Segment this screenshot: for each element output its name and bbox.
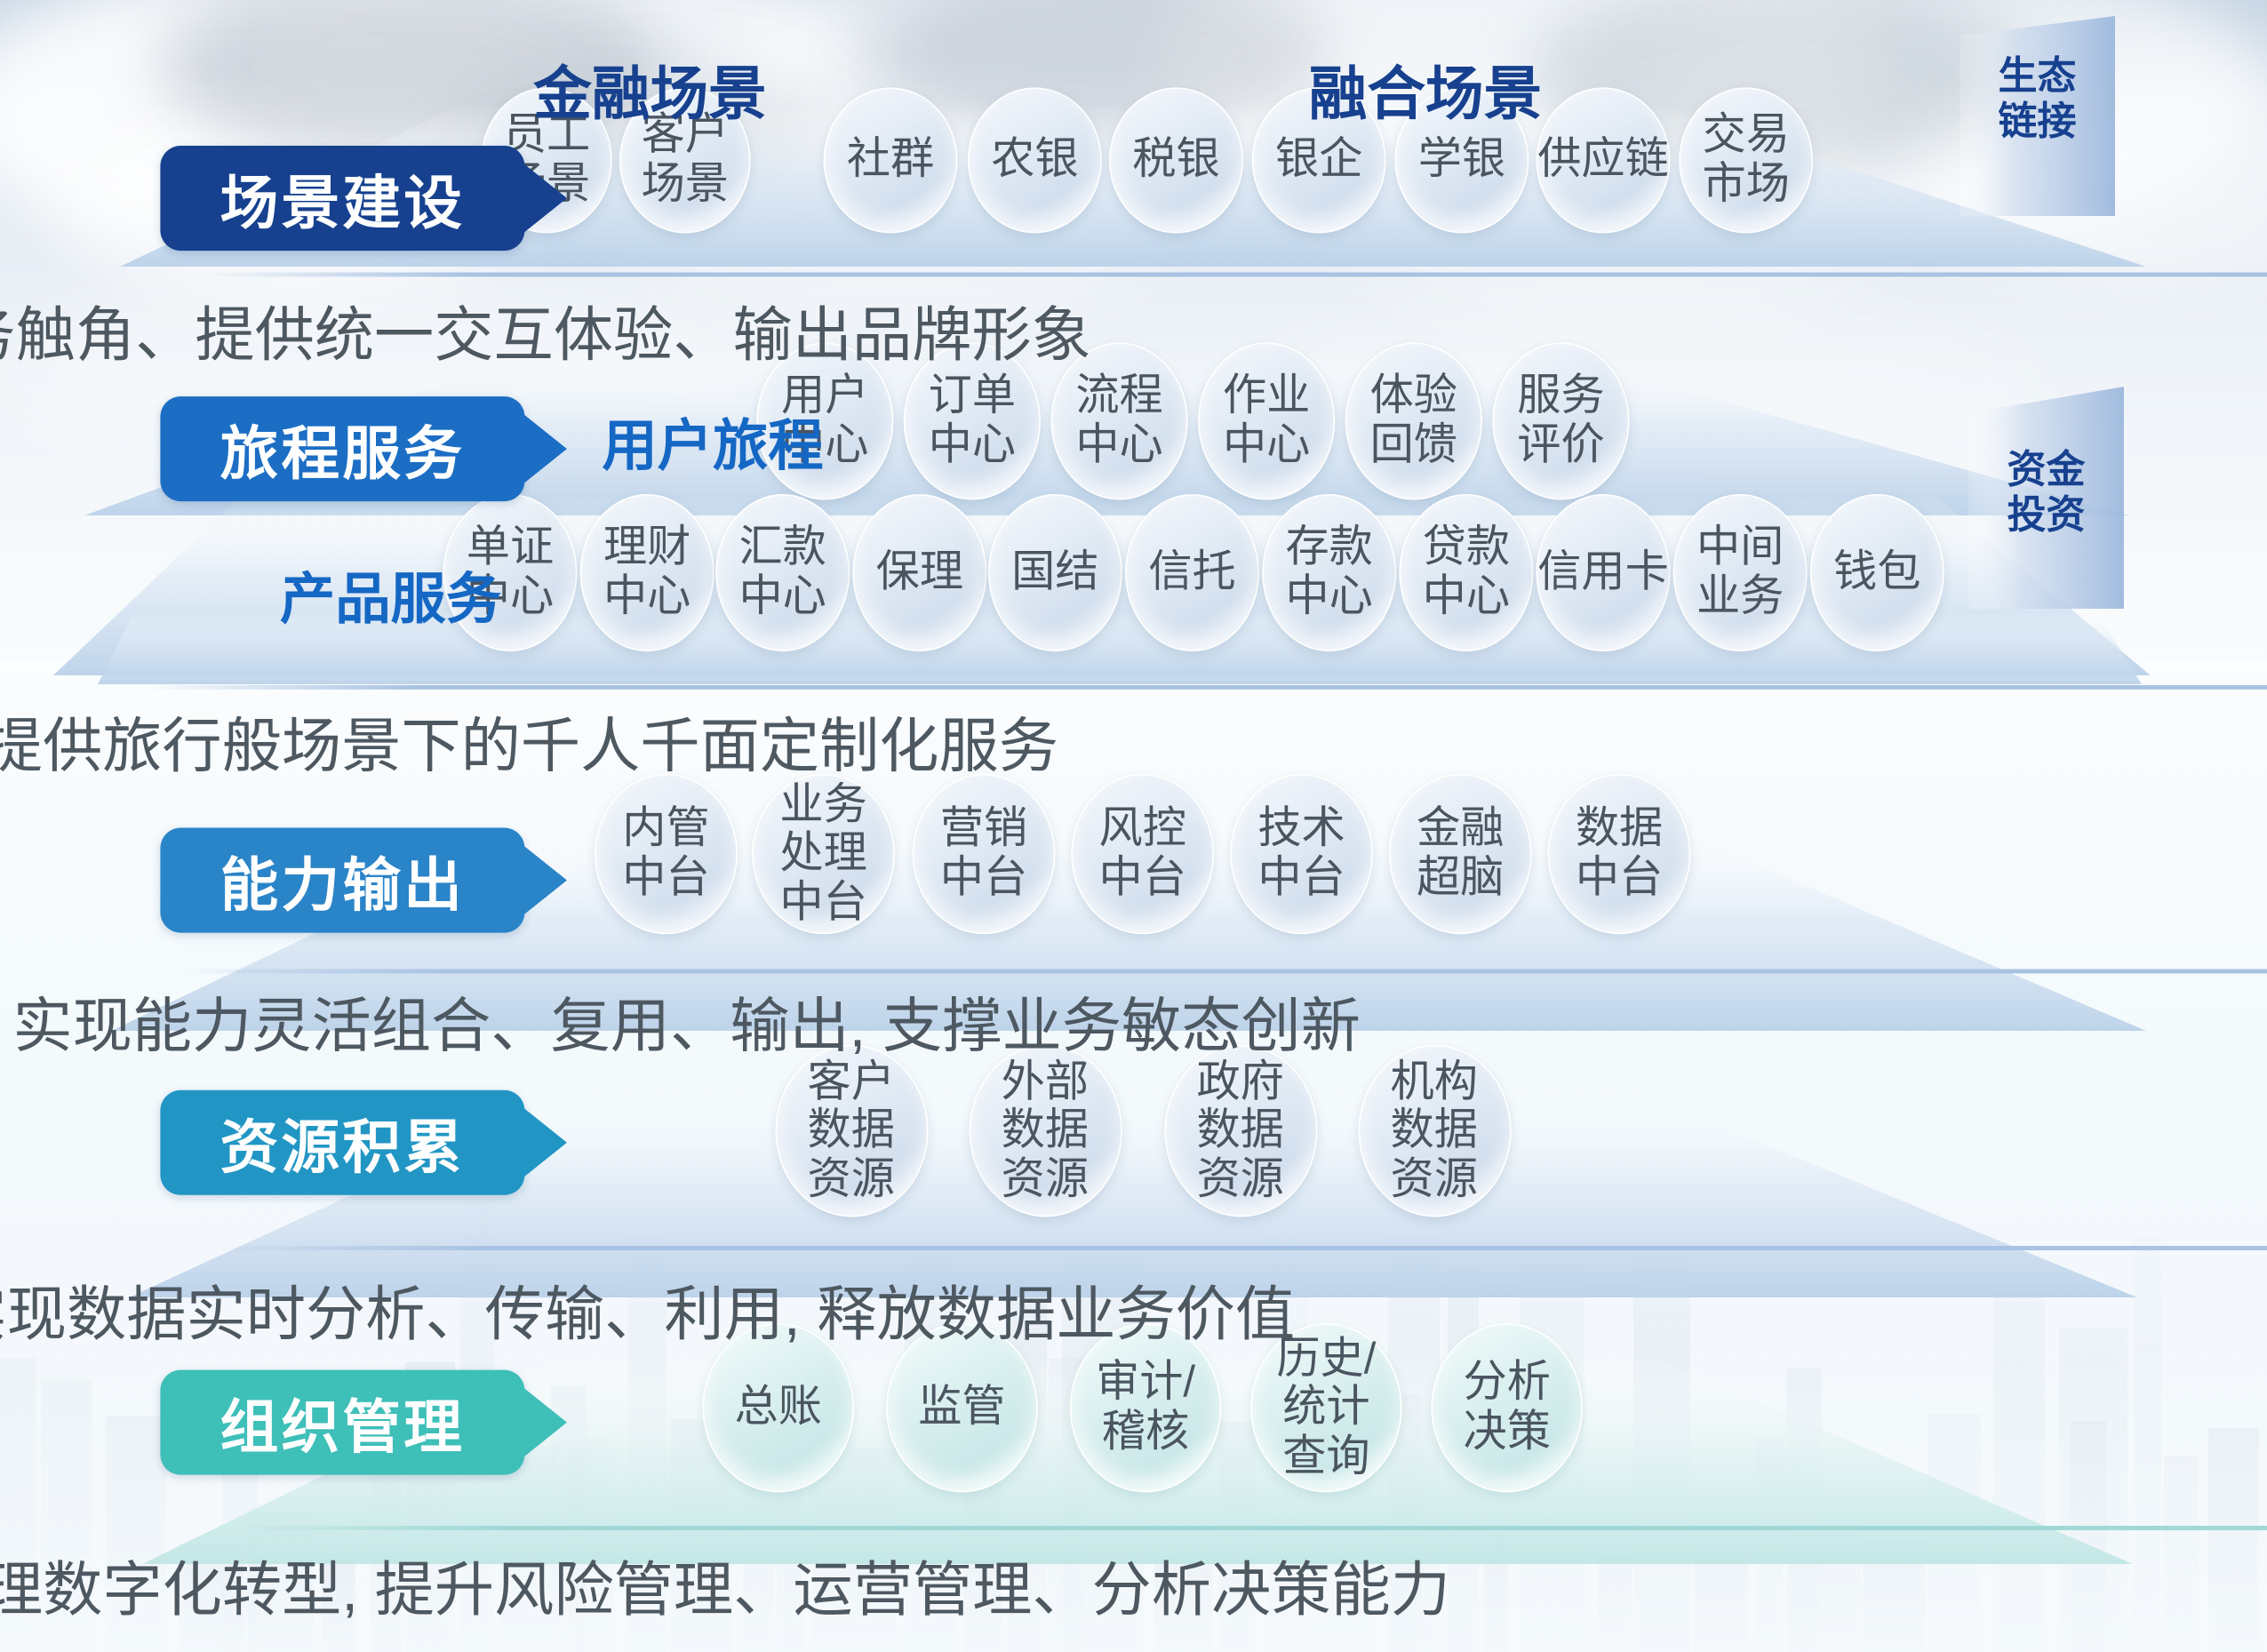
row-label: 用户旅程 (602, 401, 823, 481)
layer-divider-line (204, 273, 2267, 277)
ribbon-label-line2: 投资 (1988, 492, 2104, 538)
node-bubble-label: 政府数据资源 (1196, 1057, 1283, 1204)
node-bubble-label: 机构数据资源 (1391, 1057, 1478, 1204)
node-bubble[interactable]: 汇款中心 (715, 494, 850, 651)
node-bubble-label: 体验回馈 (1370, 372, 1457, 470)
ribbon-label-line1: 资金 (1988, 447, 2104, 492)
node-bubble-label: 保理 (876, 548, 963, 597)
layer-tag-arrow (523, 1387, 567, 1457)
layer-tag-arrow (523, 414, 567, 484)
node-bubble[interactable]: 供应链 (1537, 87, 1671, 233)
group-heading: 融合场景 (1309, 46, 1542, 131)
node-bubble[interactable]: 客户数据资源 (775, 1045, 928, 1217)
node-bubble-label: 订单中心 (929, 372, 1016, 470)
node-bubble-label: 存款中心 (1285, 523, 1372, 621)
layer-caption: 数据资源打通, 实现数据实时分析、传输、利用, 释放数据业务价值 (0, 1265, 1559, 1353)
node-bubble-label: 国结 (1011, 548, 1098, 597)
node-bubble[interactable]: 风控中台 (1071, 774, 1214, 934)
node-bubble[interactable]: 社群 (824, 87, 958, 233)
node-bubble-label: 营销中台 (940, 805, 1027, 903)
layer-tag-label: 资源积累 (220, 1100, 466, 1185)
row-label: 产品服务 (280, 554, 501, 634)
layer-tag-arrow (523, 1107, 567, 1177)
layer-tag-arrow (523, 164, 567, 234)
node-bubble-label: 贷款中心 (1423, 523, 1510, 621)
node-bubble-label: 中间业务 (1696, 523, 1784, 621)
node-bubble[interactable]: 信托 (1125, 494, 1259, 651)
node-bubble[interactable]: 数据中台 (1548, 774, 1691, 934)
layer-tag-arrow (523, 845, 567, 915)
node-bubble[interactable]: 存款中心 (1262, 494, 1396, 651)
node-bubble-label: 业务处理中台 (779, 780, 866, 927)
layer-divider-line (219, 1246, 2267, 1250)
node-bubble-label: 总账 (735, 1384, 822, 1433)
ribbon-label-line2: 链接 (1979, 99, 2095, 144)
node-bubble-label: 金融超脑 (1417, 805, 1504, 903)
node-bubble[interactable]: 保理 (852, 494, 986, 651)
node-bubble[interactable]: 理财中心 (580, 494, 714, 651)
node-bubble[interactable]: 营销中台 (913, 774, 1056, 934)
layer-caption: 为客户提供旅行般场景下的千人千面定制化服务 (0, 697, 1565, 784)
node-bubble[interactable]: 业务处理中台 (752, 774, 895, 934)
node-bubble[interactable]: 贷款中心 (1399, 494, 1533, 651)
node-bubble-label: 理财中心 (603, 523, 690, 621)
node-bubble[interactable]: 技术中台 (1230, 774, 1373, 934)
node-bubble-label: 农银 (991, 136, 1078, 185)
node-bubble-label: 钱包 (1833, 548, 1920, 597)
node-bubble-label: 审计/稽核 (1096, 1359, 1195, 1456)
node-bubble-label: 信托 (1148, 548, 1235, 597)
node-bubble-label: 监管 (918, 1384, 1005, 1433)
node-bubble[interactable]: 农银 (968, 87, 1102, 233)
layer-tag-resource[interactable]: 资源积累 (160, 1090, 524, 1195)
node-bubble-label: 流程中心 (1075, 372, 1162, 470)
layer-caption: 多个能力中台体系, 实现能力灵活组合、复用、输出, 支撑业务敏态创新 (0, 977, 1565, 1064)
node-bubble-label: 汇款中心 (738, 523, 826, 621)
layer-divider-line (146, 685, 2267, 690)
ribbon-label-capital: 资金投资 (1988, 447, 2104, 538)
layer-tag-label: 场景建设 (220, 156, 466, 240)
node-bubble-label: 数据中台 (1576, 805, 1663, 903)
node-bubble[interactable]: 税银 (1109, 87, 1243, 233)
layer-tag-journey[interactable]: 旅程服务 (160, 396, 524, 501)
node-bubble-label: 服务评价 (1517, 372, 1604, 470)
node-bubble-label: 外部数据资源 (1002, 1057, 1089, 1204)
node-bubble-label: 历史/统计查询 (1276, 1335, 1376, 1481)
node-bubble[interactable]: 机构数据资源 (1358, 1045, 1511, 1217)
layer-caption: 拓展业务触角、提供统一交互体验、输出品牌形象 (0, 285, 1568, 372)
node-bubble[interactable]: 金融超脑 (1389, 774, 1532, 934)
layer-caption: 智能化助力实现组织管理数字化转型, 提升风险管理、运营管理、分析决策能力 (0, 1540, 1552, 1627)
layer-tag-organization[interactable]: 组织管理 (160, 1370, 524, 1475)
node-bubble[interactable]: 交易市场 (1679, 87, 1813, 233)
node-bubble-label: 银企 (1275, 136, 1362, 185)
node-bubble[interactable]: 内管中台 (595, 774, 738, 934)
layer-tag-label: 能力输出 (220, 838, 466, 922)
node-bubble[interactable]: 外部数据资源 (969, 1045, 1122, 1217)
node-bubble-label: 税银 (1132, 136, 1219, 185)
layer-tag-label: 组织管理 (220, 1380, 466, 1464)
node-bubble-label: 作业中心 (1223, 372, 1310, 470)
node-bubble-label: 学银 (1418, 136, 1505, 185)
node-bubble-label: 内管中台 (622, 805, 709, 903)
ribbon-label-line1: 生态 (1979, 53, 2095, 99)
diagram-content: 场景建设金融场景融合场景员工场景客户场景社群农银税银银企学银供应链交易市场业务拓… (0, 0, 2267, 1652)
layer-divider-line (241, 1526, 2267, 1530)
node-bubble[interactable]: 国结 (988, 494, 1122, 651)
node-bubble[interactable]: 政府数据资源 (1164, 1045, 1317, 1217)
node-bubble[interactable]: 钱包 (1810, 494, 1944, 651)
ribbon-label-ecology: 生态链接 (1979, 53, 2095, 144)
node-bubble-label: 分析决策 (1464, 1359, 1551, 1456)
node-bubble[interactable]: 信用卡 (1537, 494, 1671, 651)
node-bubble-label: 供应链 (1537, 136, 1669, 185)
node-bubble-label: 技术中台 (1257, 805, 1345, 903)
node-bubble-label: 客户数据资源 (808, 1057, 895, 1204)
node-bubble-label: 社群 (847, 136, 934, 185)
node-bubble-label: 信用卡 (1537, 548, 1669, 597)
node-bubble-label: 风控中台 (1099, 805, 1186, 903)
layer-divider-line (189, 970, 2267, 974)
node-bubble-label: 交易市场 (1703, 111, 1790, 209)
node-bubble[interactable]: 中间业务 (1673, 494, 1808, 651)
group-heading: 金融场景 (533, 46, 766, 131)
layer-tag-capability[interactable]: 能力输出 (160, 828, 524, 933)
layer-tag-scene[interactable]: 场景建设 (160, 146, 524, 251)
layer-tag-label: 旅程服务 (220, 407, 466, 491)
